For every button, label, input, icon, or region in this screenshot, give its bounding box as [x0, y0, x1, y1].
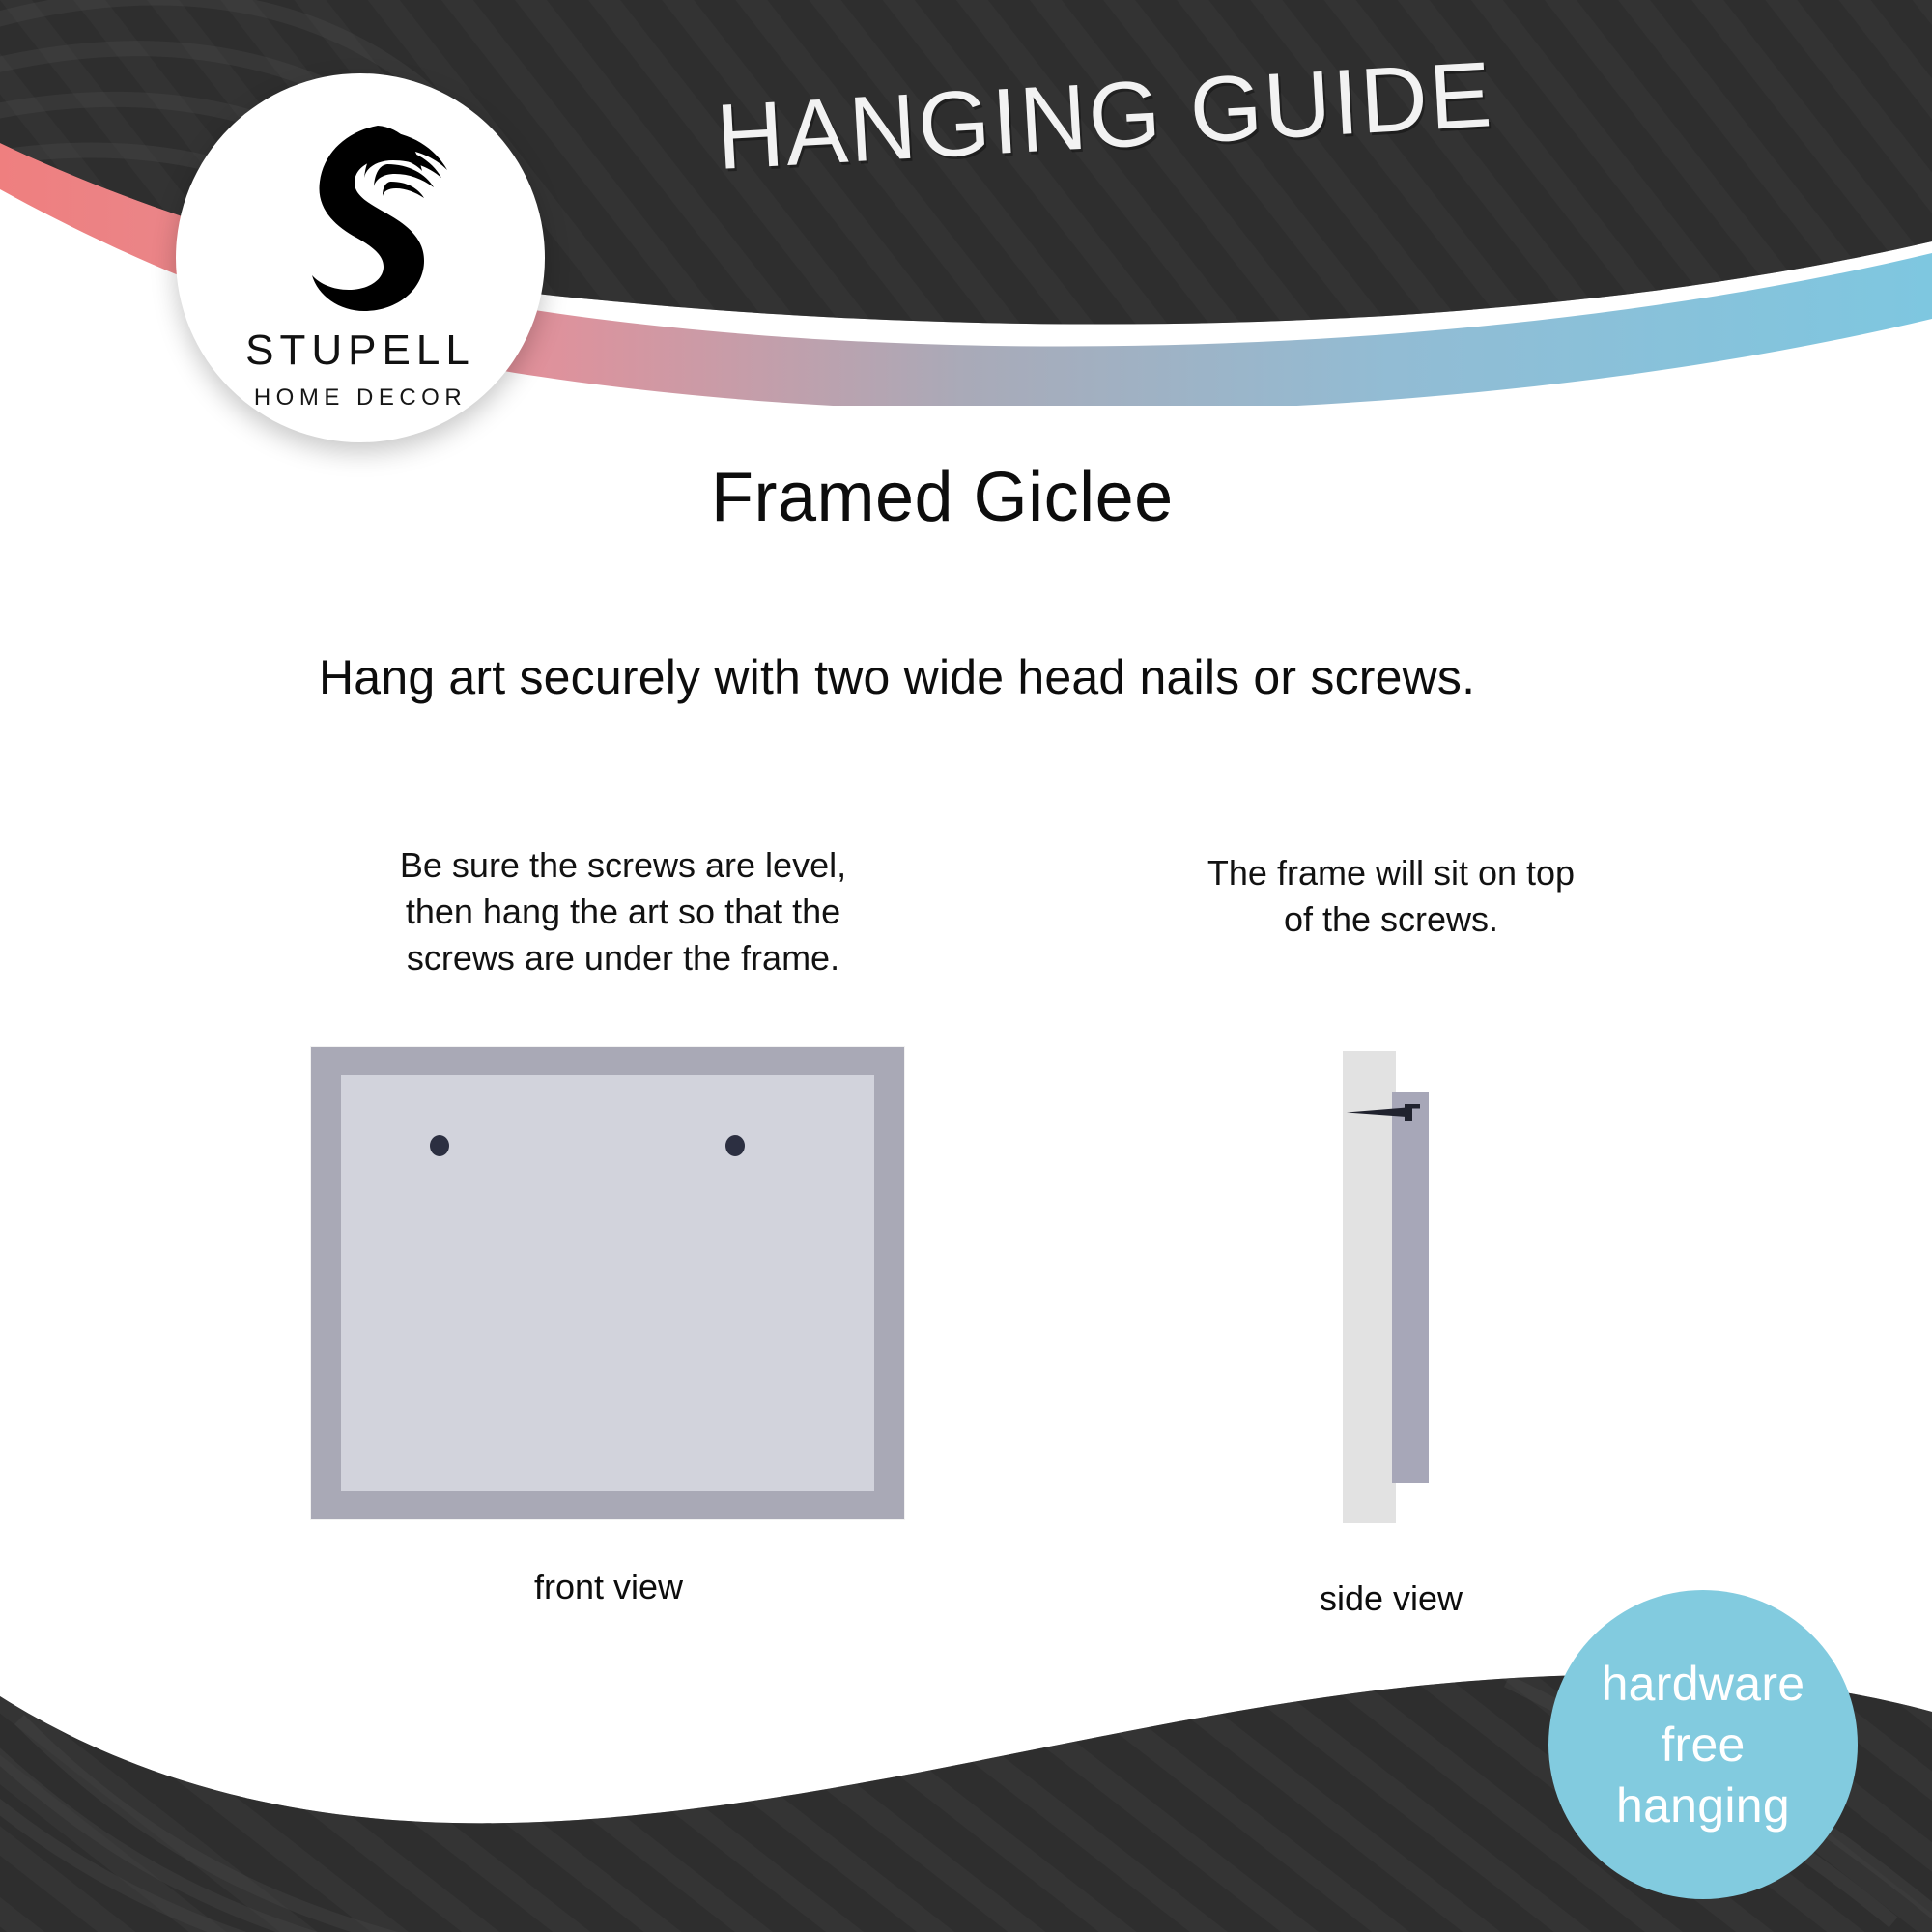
hardware-free-hanging-badge: hardware free hanging — [1548, 1590, 1858, 1899]
front-view-caption: Be sure the screws are level, then hang … — [319, 842, 927, 981]
badge-line-2: free — [1661, 1715, 1745, 1776]
side-view-label: side view — [1140, 1578, 1642, 1619]
front-view-caption-line-3: screws are under the frame. — [319, 935, 927, 981]
front-view-mat — [341, 1075, 874, 1491]
screw-hole-right-icon — [725, 1135, 745, 1156]
front-view-caption-line-2: then hang the art so that the — [319, 889, 927, 935]
side-view-frame — [1392, 1092, 1429, 1483]
logo-tagline: HOME DECOR — [254, 384, 467, 412]
side-view-caption: The frame will sit on top of the screws. — [1140, 850, 1642, 943]
lead-instruction: Hang art securely with two wide head nai… — [319, 649, 1652, 705]
front-view-label: front view — [319, 1567, 898, 1607]
hanging-guide-page: STUPELL HOME DECOR HANGING GUIDE Framed … — [0, 0, 1932, 1932]
front-view-diagram — [311, 1047, 904, 1519]
side-view-caption-line-2: of the screws. — [1140, 896, 1642, 943]
screw-hole-left-icon — [430, 1135, 449, 1156]
side-view-caption-line-1: The frame will sit on top — [1140, 850, 1642, 896]
brand-logo-badge: STUPELL HOME DECOR — [176, 73, 545, 442]
nail-side-icon — [1347, 1101, 1443, 1122]
badge-line-3: hanging — [1616, 1776, 1790, 1836]
logo-wordmark: STUPELL — [245, 327, 475, 375]
product-type-subtitle: Framed Giclee — [711, 458, 1174, 537]
badge-line-1: hardware — [1602, 1654, 1805, 1715]
stupell-swirl-logo-icon — [264, 118, 457, 321]
front-view-caption-line-1: Be sure the screws are level, — [319, 842, 927, 889]
